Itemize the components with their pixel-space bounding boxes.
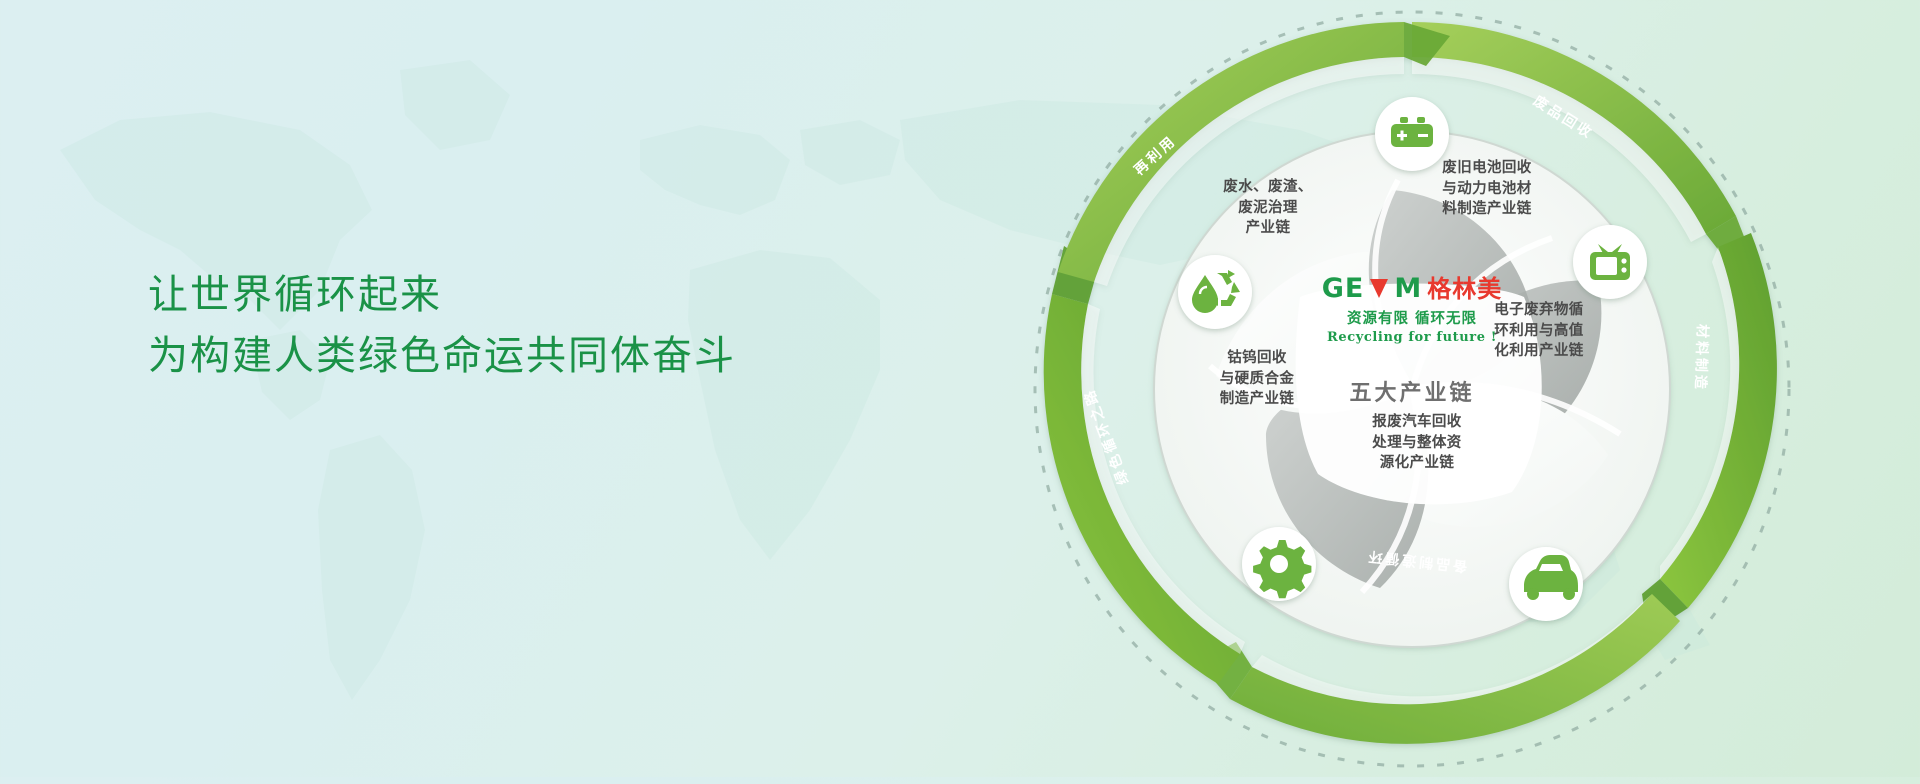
chain-label-battery: 废旧电池回收 与动力电池材 料制造产业链 [1412,158,1562,220]
gem-triangle-icon [1370,279,1388,298]
circular-economy-diagram: GE M 格林美 资源有限 循环无限 Recycling for future … [1012,0,1812,784]
chain-label-cobalt-tungsten: 钴钨回收 与硬质合金 制造产业链 [1182,348,1332,410]
car-icon-circle [1509,547,1583,621]
gem-wordmark: GE [1322,275,1365,302]
gem-wordmark-tail: M [1394,275,1422,302]
ring-label-material-manufacturing: 材料制造 [1691,324,1713,393]
headline-line-1: 让世界循环起来 [148,265,736,326]
chain-label-vehicle: 报废汽车回收 处理与整体资 源化产业链 [1342,412,1492,474]
headline-block: 让世界循环起来 为构建人类绿色命运共同体奋斗 [148,265,736,387]
chain-label-e-waste: 电子废弃物循 环利用与高值 化利用产业链 [1464,300,1614,362]
core-title: 五大产业链 [1304,375,1520,407]
television-icon-circle [1573,225,1647,299]
headline-line-2: 为构建人类绿色命运共同体奋斗 [148,326,736,387]
gear-icon-circle [1242,527,1316,601]
gem-chinese-name: 格林美 [1427,277,1502,301]
chain-label-waste-water: 废水、废渣、 废泥治理 产业链 [1198,177,1338,239]
gem-logo: GE M 格林美 [1304,275,1520,302]
water-recycle-icon-circle [1178,255,1252,329]
